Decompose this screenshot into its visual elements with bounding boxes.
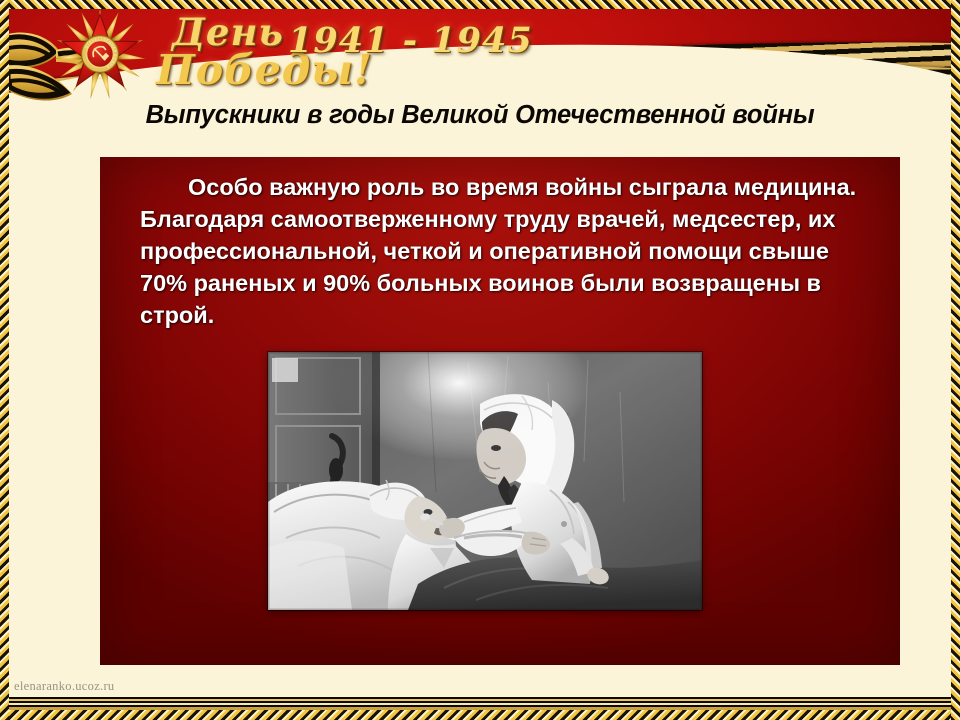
bottom-ribbon-lines	[0, 696, 960, 710]
order-of-patriotic-war-star-icon: ОТЕЧЕСТВЕННАЯ ВОЙНА	[52, 6, 148, 102]
site-watermark: elenaranko.ucoz.ru	[14, 679, 115, 694]
border-bottom-chevron	[0, 710, 960, 720]
content-panel: Особо важную роль во время войны сыграла…	[100, 157, 900, 665]
historical-photo	[268, 352, 702, 610]
slide-canvas: День Победы! 1941 - 1945	[0, 0, 960, 720]
war-years-label: 1941 - 1945	[288, 20, 533, 61]
page-title: Выпускники в годы Великой Отечественной …	[0, 101, 960, 130]
body-paragraph: Особо важную роль во время войны сыграла…	[140, 171, 864, 331]
